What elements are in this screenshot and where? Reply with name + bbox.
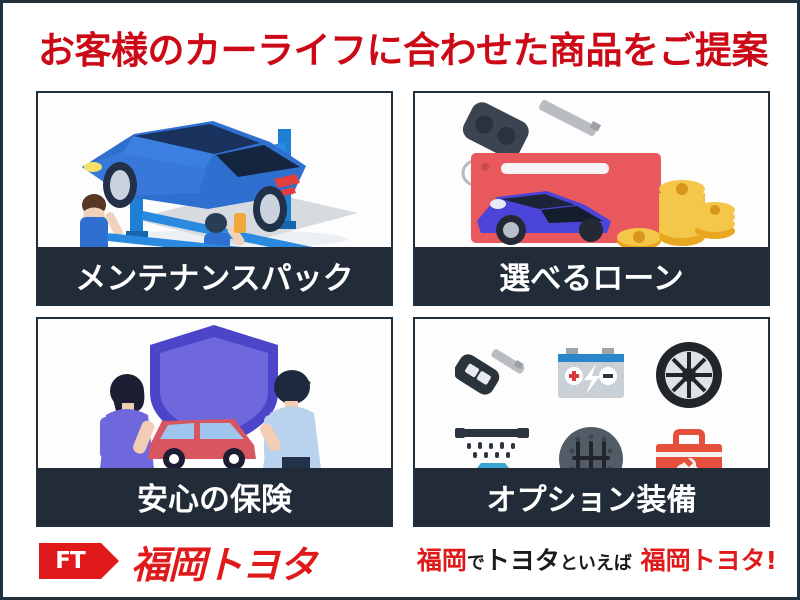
key-card-coins-illustration: [415, 93, 768, 247]
card-maintenance-pack-label: メンテナンスパック: [38, 247, 391, 304]
tagline-part-5: 福岡トヨタ!: [641, 546, 777, 575]
accessory-icon-grid: [415, 319, 768, 468]
card-maintenance-pack-illustration: [38, 93, 391, 247]
card-loan[interactable]: 選べるローン: [413, 91, 770, 306]
car-wash-icon: [451, 417, 537, 468]
card-option-equipment-label: オプション装備: [415, 468, 768, 525]
tagline-part-4: といえば: [560, 553, 632, 574]
car-battery-icon: [548, 333, 634, 417]
tire-wheel-icon: [646, 333, 732, 417]
card-insurance[interactable]: 安心の保険: [36, 317, 393, 527]
dealer-logo-name: 福岡トヨタ: [131, 534, 316, 589]
tagline-part-2: で: [467, 553, 485, 574]
card-insurance-illustration: [38, 319, 391, 468]
tagline-part-3: トヨタ: [485, 546, 560, 575]
tagline-part-1: 福岡: [417, 546, 467, 575]
person-left: [100, 374, 156, 468]
service-card-grid: メンテナンスパック: [36, 91, 770, 527]
card-option-equipment[interactable]: オプション装備: [413, 317, 770, 527]
car-on-lift-illustration: [38, 93, 391, 247]
card-loan-illustration: [415, 93, 768, 247]
card-loan-label: 選べるローン: [415, 247, 768, 304]
dealer-logo[interactable]: FT 福岡トヨタ: [39, 540, 316, 582]
car-key-icon: [451, 333, 537, 417]
ft-badge-icon: FT: [39, 543, 101, 579]
ft-badge-text: FT: [55, 548, 84, 574]
footer: FT 福岡トヨタ 福岡でトヨタといえば 福岡トヨタ!: [3, 530, 800, 600]
toolbox-icon: [646, 417, 732, 468]
gear-shift-icon: [548, 417, 634, 468]
tagline: 福岡でトヨタといえば 福岡トヨタ!: [417, 546, 777, 579]
card-option-equipment-illustration: [415, 319, 768, 468]
shield-couple-car-illustration: [38, 319, 391, 468]
card-insurance-label: 安心の保険: [38, 468, 391, 525]
promo-banner: お客様のカーライフに合わせた商品をご提案: [0, 0, 800, 600]
card-maintenance-pack[interactable]: メンテナンスパック: [36, 91, 393, 306]
page-title: お客様のカーライフに合わせた商品をご提案: [3, 29, 800, 73]
